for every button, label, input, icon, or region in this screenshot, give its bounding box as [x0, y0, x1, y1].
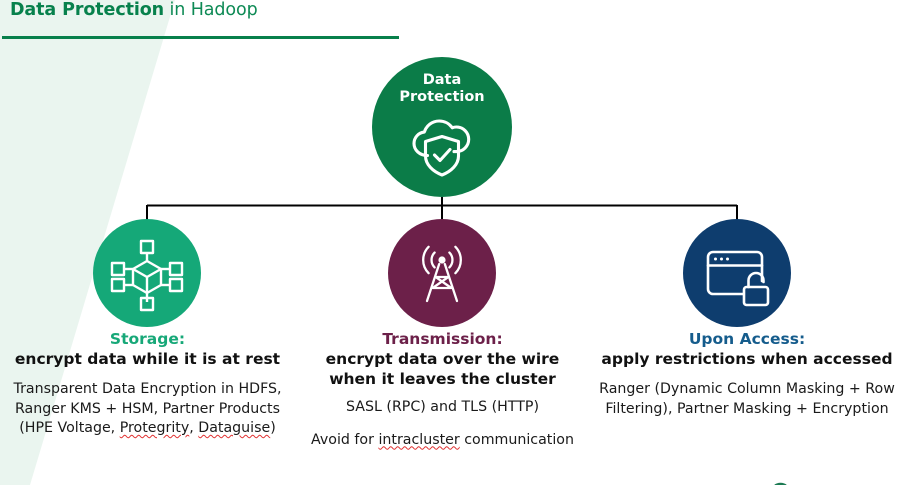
column-subheading-storage: encrypt data while it is at rest: [5, 349, 290, 369]
column-body-storage: Transparent Data Encryption in HDFS, Ran…: [5, 369, 290, 439]
browser-window-lock-icon: [700, 237, 774, 309]
hub-label-line2: Protection: [382, 89, 502, 106]
hub-label: Data Protection: [382, 72, 502, 106]
column-body-line: Transparent Data Encryption in HDFS, Ran…: [5, 380, 290, 439]
misspelled-word: intracluster: [378, 432, 459, 448]
misspelled-word: Protegrity: [120, 420, 190, 436]
column-storage: Storage: encrypt data while it is at res…: [5, 330, 290, 439]
slide-header: Data Protection in Hadoop: [0, 0, 908, 40]
column-body-upon-access: Ranger (Dynamic Column Masking + Row Fil…: [597, 369, 897, 419]
column-subheading-transmission: encrypt data over the wire when it leave…: [300, 349, 585, 389]
page-title-bold: Data Protection: [10, 0, 164, 20]
column-subheading-upon-access: apply restrictions when accessed: [597, 349, 897, 369]
slide-canvas: Data Protection in Hadoop Data Protectio…: [0, 0, 908, 485]
hub-label-line1: Data: [382, 72, 502, 89]
bottom-edge-logo-fragment: [772, 476, 789, 485]
hub-node-data-protection[interactable]: Data Protection: [372, 57, 512, 197]
column-body-line: Ranger (Dynamic Column Masking + Row Fil…: [597, 380, 897, 419]
column-heading-transmission: Transmission:: [300, 330, 585, 349]
column-heading-storage: Storage:: [5, 330, 290, 349]
column-body-line: Avoid for intracluster communication: [300, 431, 585, 451]
title-underline-rule: [2, 36, 399, 39]
branch-icon-storage[interactable]: [93, 219, 201, 327]
cloud-shield-check-icon: [405, 110, 479, 180]
branch-icon-transmission[interactable]: [388, 219, 496, 327]
column-heading-upon-access: Upon Access:: [597, 330, 897, 349]
column-body-line: SASL (RPC) and TLS (HTTP): [300, 398, 585, 418]
page-title: Data Protection in Hadoop: [10, 0, 258, 20]
network-cube-nodes-icon: [108, 234, 186, 312]
page-title-rest: in Hadoop: [164, 0, 258, 20]
column-body-transmission: SASL (RPC) and TLS (HTTP) Avoid for intr…: [300, 389, 585, 450]
column-transmission: Transmission: encrypt data over the wire…: [300, 330, 585, 450]
branch-icon-upon-access[interactable]: [683, 219, 791, 327]
column-upon-access: Upon Access: apply restrictions when acc…: [597, 330, 897, 419]
misspelled-word: Dataguise: [198, 420, 270, 436]
broadcast-tower-icon: [406, 237, 478, 309]
